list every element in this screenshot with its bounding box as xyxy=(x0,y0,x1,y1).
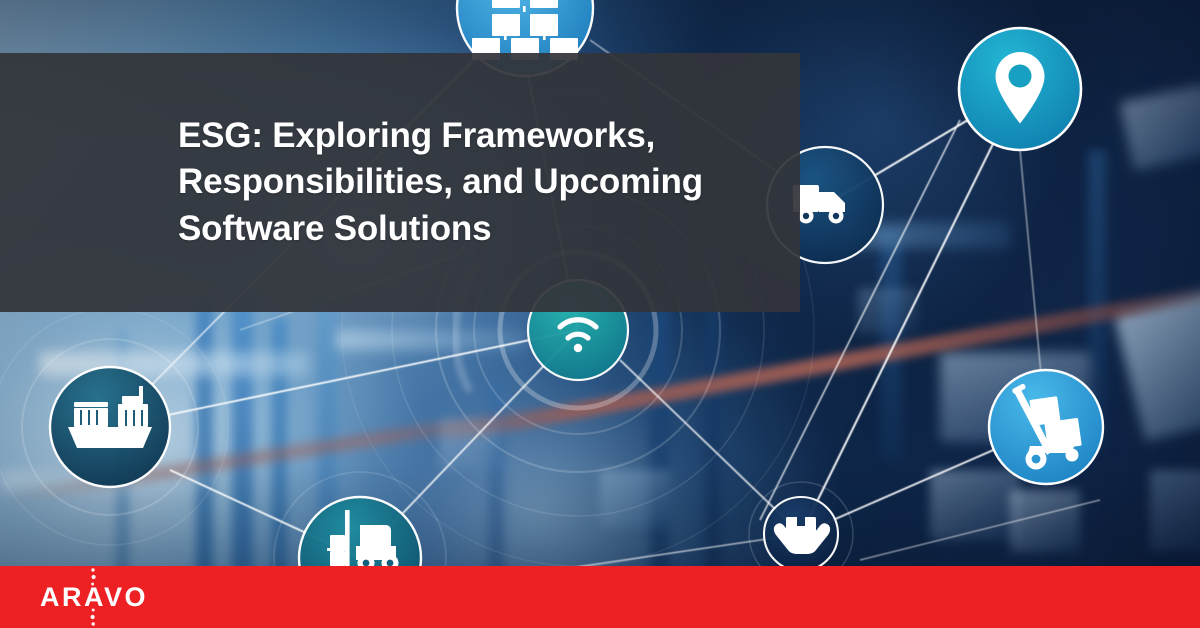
title-overlay-panel: ESG: Exploring Frameworks, Responsibilit… xyxy=(0,53,800,312)
title-line-3: Software Solutions xyxy=(178,209,491,248)
aravo-logo[interactable]: ARAVO xyxy=(40,577,148,617)
brand-footer-bar: ARAVO xyxy=(0,566,1200,628)
node-location-pin xyxy=(959,28,1081,150)
node-hand-truck xyxy=(989,370,1103,484)
page-title: ESG: Exploring Frameworks, Responsibilit… xyxy=(178,113,736,253)
network-edge xyxy=(860,500,1100,560)
wifi-signal-dot xyxy=(574,344,582,352)
blog-hero-banner: ESG: Exploring Frameworks, Responsibilit… xyxy=(0,0,1200,628)
node-cargo-ship xyxy=(50,367,170,487)
aravo-logo-wordmark: ARAVO xyxy=(40,584,148,611)
node-care-package xyxy=(764,497,838,571)
title-line-2: Responsibilities, and Upcoming xyxy=(178,162,703,201)
network-edge xyxy=(110,330,578,427)
title-line-1: ESG: Exploring Frameworks, xyxy=(178,116,655,155)
